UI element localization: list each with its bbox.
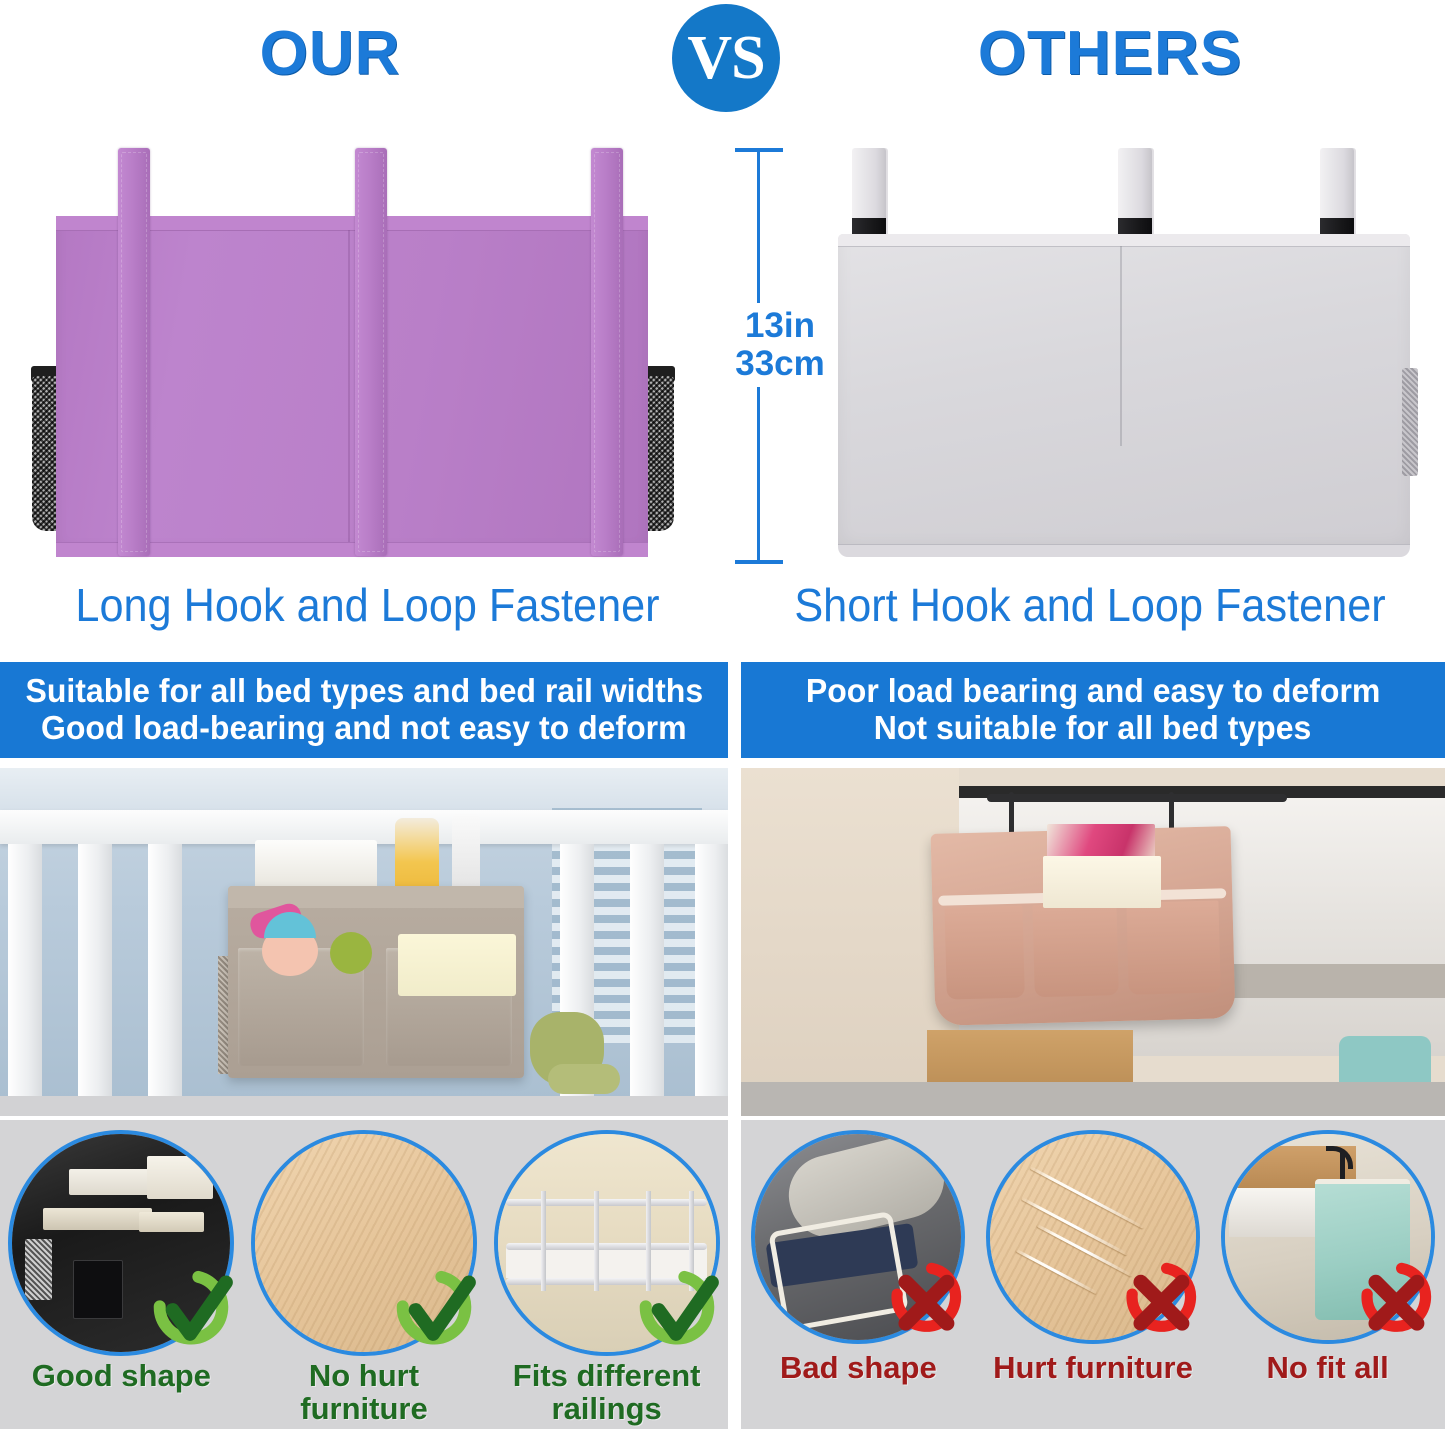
book-item (139, 1212, 204, 1232)
organizer-center-seam (348, 230, 350, 542)
proof-item-no-hurt-furniture (244, 1130, 484, 1356)
others-proof-strip: Bad shape Hurt furniture No fit all (741, 1120, 1445, 1429)
lotion-pump (452, 814, 480, 894)
proof-label-good-shape: Good shape (1, 1360, 241, 1426)
caption-long-fastener: Long Hook and Loop Fastener (22, 578, 713, 632)
others-drawbacks-banner: Poor load bearing and easy to deform Not… (741, 662, 1445, 758)
mesh-pocket (25, 1239, 51, 1300)
thumbnail-good-shape (8, 1130, 234, 1356)
our-thumbnail-row (0, 1130, 728, 1356)
photo-floor-strip (0, 1096, 728, 1116)
proof-label-no-fit-all: No fit all (1211, 1352, 1443, 1385)
thumbnail-bad-shape (751, 1130, 965, 1344)
product-stage: 13in 33cm (0, 130, 1445, 575)
lifestyle-book (147, 1156, 212, 1200)
others-thumbnail-row (741, 1130, 1445, 1344)
railing-post (541, 1191, 546, 1291)
railing-post (689, 1191, 694, 1291)
diaper-stack (398, 934, 516, 996)
long-strap-3 (591, 148, 623, 556)
thumbnail-scratched-wood (986, 1130, 1200, 1344)
wipes-pack (255, 840, 377, 892)
thumbnail-hook-bag (1221, 1130, 1435, 1344)
wire-rack (987, 794, 1287, 802)
dimension-label: 13in 33cm (717, 303, 843, 387)
book-item (1043, 856, 1161, 908)
railing-post (646, 1191, 651, 1291)
our-proof-strip: Good shape No hurt furniture Fits differ… (0, 1120, 728, 1429)
proof-item-bad-shape (742, 1130, 974, 1344)
railing-bar (506, 1278, 707, 1285)
proof-item-good-shape (1, 1130, 241, 1356)
organizer-gray-bottom (838, 544, 1410, 557)
thumbnail-smooth-wood (251, 1130, 477, 1356)
organizer-body-gray (838, 234, 1410, 556)
pink-pocket-2 (1032, 903, 1118, 997)
strap-1-loop (852, 148, 886, 222)
room-floor-strip (741, 1082, 1445, 1116)
thumbnail-bed-railing (494, 1130, 720, 1356)
smooth-wood-surface (255, 1134, 473, 1352)
long-strap-1 (118, 148, 150, 556)
remote-pocket (73, 1260, 123, 1319)
our-proof-labels: Good shape No hurt furniture Fits differ… (0, 1360, 728, 1426)
teal-hanging-bag (1315, 1179, 1410, 1320)
our-title: OUR (0, 18, 660, 89)
our-benefit-line-2: Good load-bearing and not easy to deform (41, 710, 687, 747)
our-benefit-line-1: Suitable for all bed types and bed rail … (25, 673, 703, 710)
mattress (506, 1247, 707, 1278)
dinosaur-plush-body (548, 1064, 620, 1094)
others-lifestyle-photo (741, 768, 1445, 1116)
white-furniture (1229, 1188, 1324, 1237)
fastener-caption-row: Long Hook and Loop Fastener Short Hook a… (0, 578, 1445, 656)
green-rattle (330, 932, 372, 974)
railing-post (594, 1191, 599, 1291)
hanging-bag-photo (1225, 1134, 1431, 1340)
pink-pocket-3 (1126, 900, 1220, 994)
crib-rail (0, 810, 728, 844)
crib-slat (78, 844, 112, 1116)
our-benefits-banner: Suitable for all bed types and bed rail … (0, 662, 728, 758)
organizer-gray-seam (1120, 246, 1122, 446)
scratch-mark (1030, 1166, 1144, 1229)
railing-bar (506, 1243, 707, 1250)
others-drawback-line-1: Poor load bearing and easy to deform (806, 673, 1381, 710)
our-product-image (18, 138, 688, 563)
vs-badge-icon: VS (672, 4, 780, 112)
strap-3-loop (1320, 148, 1354, 222)
height-dimension-annotation: 13in 33cm (735, 138, 815, 563)
proof-label-no-hurt-furniture: No hurt furniture (244, 1360, 484, 1426)
book-item (43, 1208, 152, 1230)
proof-label-bad-shape: Bad shape (742, 1352, 974, 1385)
others-title: OTHERS (790, 18, 1430, 89)
comparison-header: OUR VS OTHERS (0, 0, 1445, 130)
dimension-cap-bottom (735, 560, 783, 564)
long-strap-2 (355, 148, 387, 556)
crib-slat (148, 844, 182, 1116)
metal-bed-railing (498, 1134, 716, 1352)
proof-item-hurt-furniture (977, 1130, 1209, 1344)
rack-hook-left (1009, 792, 1014, 836)
column-divider (728, 660, 741, 1429)
crib-slat (630, 844, 664, 1116)
proof-item-fits-railings (487, 1130, 727, 1356)
organizer-lid (228, 886, 524, 908)
scratch-mark (1015, 1249, 1096, 1294)
others-drawback-line-2: Not suitable for all bed types (874, 710, 1312, 747)
furniture-gap (1227, 964, 1445, 998)
others-proof-labels: Bad shape Hurt furniture No fit all (741, 1352, 1445, 1385)
our-lifestyle-photo (0, 768, 728, 1116)
pink-pocket-1 (944, 906, 1024, 1000)
proof-label-fits-railings: Fits different railings (487, 1360, 727, 1426)
crib-slat (695, 844, 728, 1116)
organizer-gray-lip (838, 234, 1410, 247)
organizer-gray-side-mesh (1402, 368, 1418, 476)
black-organizer-photo (12, 1134, 230, 1352)
strap-2-loop (1118, 148, 1152, 222)
sagging-bag-photo (755, 1134, 961, 1340)
baby-bottle (395, 818, 439, 894)
caption-short-fastener: Short Hook and Loop Fastener (756, 578, 1423, 632)
others-product-image (830, 138, 1420, 563)
crib-slat (8, 844, 42, 1116)
proof-item-no-fit-all (1211, 1130, 1443, 1344)
scratched-wood-surface (990, 1134, 1196, 1340)
white-trim (768, 1210, 909, 1331)
railing-bar (506, 1199, 707, 1206)
proof-label-hurt-furniture: Hurt furniture (977, 1352, 1209, 1385)
